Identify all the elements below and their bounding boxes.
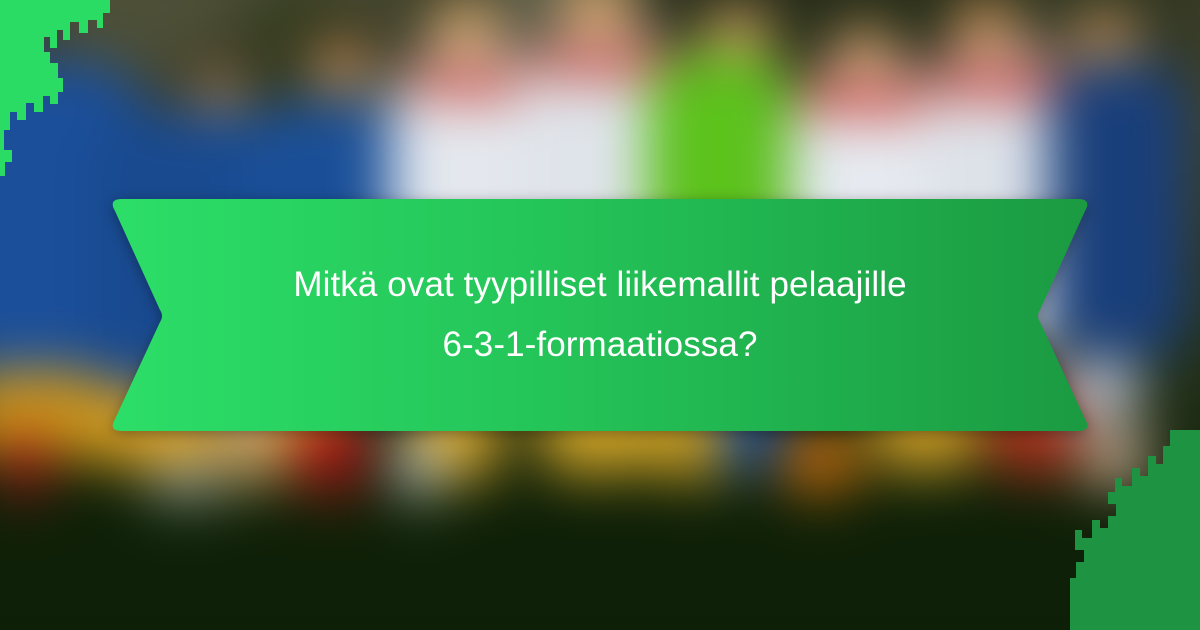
photo-grass-band (0, 485, 1190, 630)
banner-line-1: Mitkä ovat tyypilliset liikemallit pelaa… (293, 255, 906, 315)
photo-blob (536, 50, 676, 76)
torn-shape-top-left (0, 0, 110, 176)
photo-blob (314, 38, 368, 100)
banner-line-2: 6-3-1-formaatiossa? (442, 315, 757, 375)
banner-text-block: Mitkä ovat tyypilliset liikemallit pelaa… (108, 198, 1092, 432)
photo-blob (800, 85, 940, 113)
torn-shape-bottom-right (1070, 430, 1200, 630)
torn-edge-bottom-right (1070, 430, 1200, 630)
social-card: Mitkä ovat tyypilliset liikemallit pelaa… (0, 0, 1200, 630)
question-banner: Mitkä ovat tyypilliset liikemallit pelaa… (108, 198, 1092, 432)
photo-blob (935, 68, 1067, 96)
torn-edge-top-left (0, 0, 185, 205)
